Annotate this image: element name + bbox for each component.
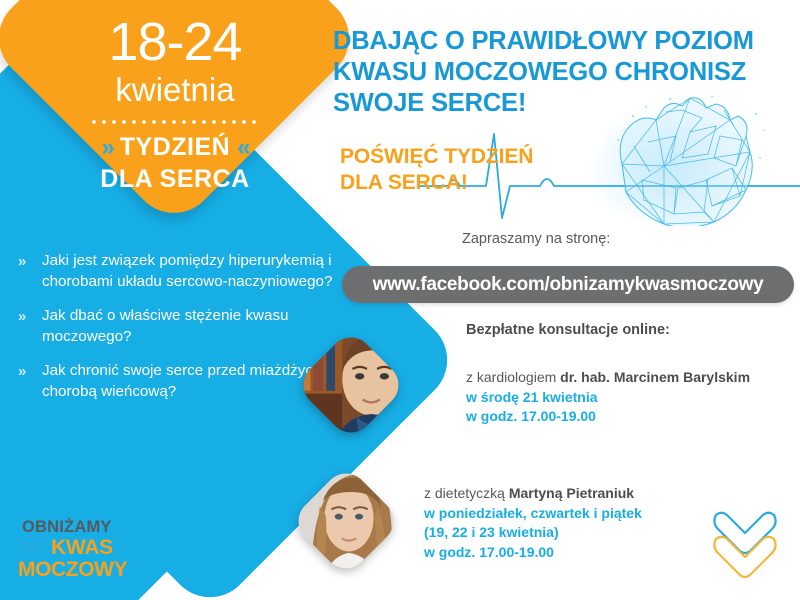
bullet-marker-icon: » bbox=[18, 250, 42, 272]
dietitian-name: Martyną Pietraniuk bbox=[509, 485, 634, 501]
brand-logo: OBNIŻAMY KWAS MOCZOWY bbox=[18, 518, 140, 581]
subtitle-line-2: DLA SERCA! bbox=[340, 170, 533, 196]
dietitian-day: w poniedziałek, czwartek i piątek bbox=[424, 504, 642, 524]
list-item: » Jak chronić swoje serce przed miażdżyc… bbox=[18, 360, 338, 402]
invite-text: Zapraszamy na stronę: bbox=[462, 229, 610, 249]
headline-line-1: DBAJĄC O PRAWIDŁOWY POZIOM bbox=[333, 26, 793, 57]
dotted-chevron-down-icon bbox=[18, 539, 48, 557]
subtitle: POŚWIĘĆ TYDZIEŃ DLA SERCA! bbox=[340, 144, 533, 196]
bullet-marker-icon: » bbox=[18, 305, 42, 327]
cardiologist-hours: w godz. 17.00-19.00 bbox=[466, 407, 750, 427]
decorative-chevrons bbox=[706, 505, 784, 587]
logo-middle-row: KWAS bbox=[18, 537, 140, 558]
list-item-text: Jak dbać o właściwe stężenie kwasu moczo… bbox=[42, 305, 338, 347]
list-item: » Jaki jest związek pomiędzy hiperurykem… bbox=[18, 250, 338, 292]
page-title: DBAJĄC O PRAWIDŁOWY POZIOM KWASU MOCZOWE… bbox=[333, 26, 793, 119]
cardiologist-block: z kardiologiem dr. hab. Marcinem Barylsk… bbox=[466, 368, 750, 427]
list-item-text: Jak chronić swoje serce przed miażdżycą … bbox=[42, 360, 338, 402]
consultations-title: Bezpłatne konsultacje online: bbox=[466, 320, 670, 340]
question-list: » Jaki jest związek pomiędzy hiperurykem… bbox=[18, 250, 338, 415]
subtitle-line-1: POŚWIĘĆ TYDZIEŃ bbox=[340, 144, 533, 170]
dietitian-prefix: z dietetyczką bbox=[424, 485, 509, 501]
dietitian-block: z dietetyczką Martyną Pietraniuk w ponie… bbox=[424, 484, 642, 562]
headline-line-2: KWASU MOCZOWEGO CHRONISZ bbox=[333, 57, 793, 88]
dietitian-dates: (19, 22 i 23 kwietnia) bbox=[424, 523, 642, 543]
campaign-poster: 18-24 kwietnia »TYDZIEŃ« DLA SERCA » Jak… bbox=[0, 0, 800, 600]
bullet-marker-icon: » bbox=[18, 360, 42, 382]
facebook-url-bar[interactable]: www.facebook.com/obnizamykwasmoczowy bbox=[342, 266, 794, 303]
list-item: » Jak dbać o właściwe stężenie kwasu moc… bbox=[18, 305, 338, 347]
dietitian-line: z dietetyczką Martyną Pietraniuk bbox=[424, 484, 642, 504]
cardiologist-day: w środę 21 kwietnia bbox=[466, 388, 750, 408]
cardiologist-prefix: z kardiologiem bbox=[466, 369, 560, 385]
facebook-url-text: www.facebook.com/obnizamykwasmoczowy bbox=[373, 274, 764, 296]
logo-line-obnizamy: OBNIŻAMY bbox=[22, 518, 140, 536]
logo-line-moczowy: MOCZOWY bbox=[18, 559, 140, 581]
dietitian-hours: w godz. 17.00-19.00 bbox=[424, 543, 642, 563]
list-item-text: Jaki jest związek pomiędzy hiperurykemią… bbox=[42, 250, 338, 292]
logo-line-kwas: KWAS bbox=[51, 537, 113, 558]
headline-line-3: SWOJE SERCE! bbox=[333, 88, 793, 119]
cardiologist-line: z kardiologiem dr. hab. Marcinem Barylsk… bbox=[466, 368, 750, 388]
cardiologist-name: dr. hab. Marcinem Barylskim bbox=[560, 369, 750, 385]
double-chevron-down-icon bbox=[706, 505, 784, 587]
